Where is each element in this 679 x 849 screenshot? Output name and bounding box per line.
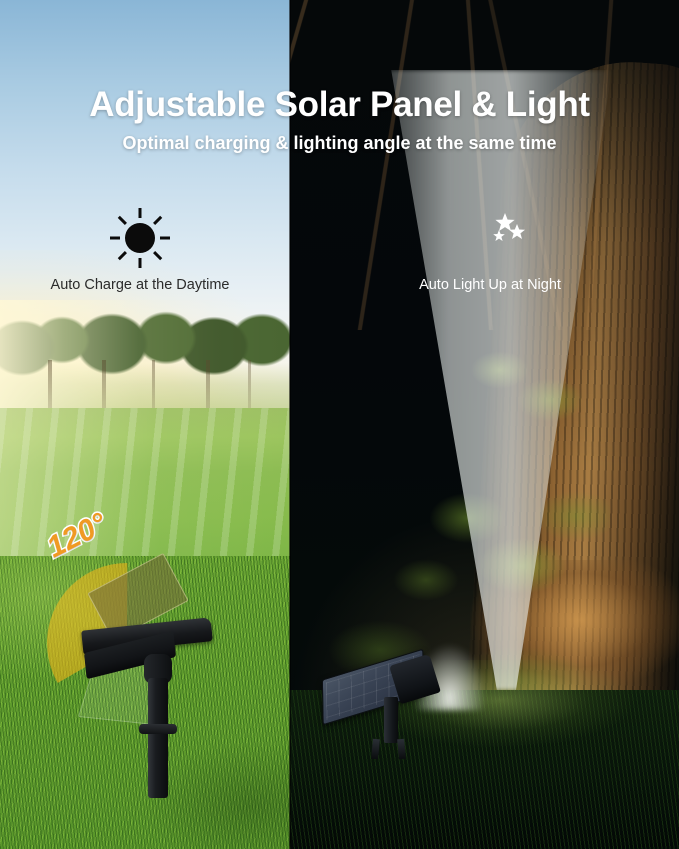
sun-icon bbox=[20, 200, 260, 276]
nighttime-scene bbox=[290, 0, 679, 849]
feature-daytime-label: Auto Charge at the Daytime bbox=[20, 276, 260, 294]
feature-daytime: Auto Charge at the Daytime bbox=[20, 200, 260, 294]
daytime-scene: 120° bbox=[0, 0, 290, 849]
mid-lawn bbox=[0, 408, 290, 568]
mounting-post bbox=[384, 697, 398, 743]
moon-stars-icon bbox=[370, 200, 610, 276]
ground-stake-right bbox=[397, 739, 406, 760]
ground-stake-left bbox=[371, 739, 380, 760]
mounting-post bbox=[148, 678, 168, 798]
solar-light-night bbox=[320, 655, 460, 765]
feature-nighttime: Auto Light Up at Night bbox=[370, 200, 610, 294]
scene-divider bbox=[289, 0, 291, 849]
page-title: Adjustable Solar Panel & Light bbox=[0, 84, 679, 126]
product-feature-banner: 120° Adjustable Solar Panel & Light Opti… bbox=[0, 0, 679, 849]
page-subtitle: Optimal charging & lighting angle at the… bbox=[0, 131, 679, 155]
solar-light-day bbox=[82, 620, 222, 795]
feature-nighttime-label: Auto Light Up at Night bbox=[370, 276, 610, 294]
post-collar bbox=[139, 724, 177, 734]
